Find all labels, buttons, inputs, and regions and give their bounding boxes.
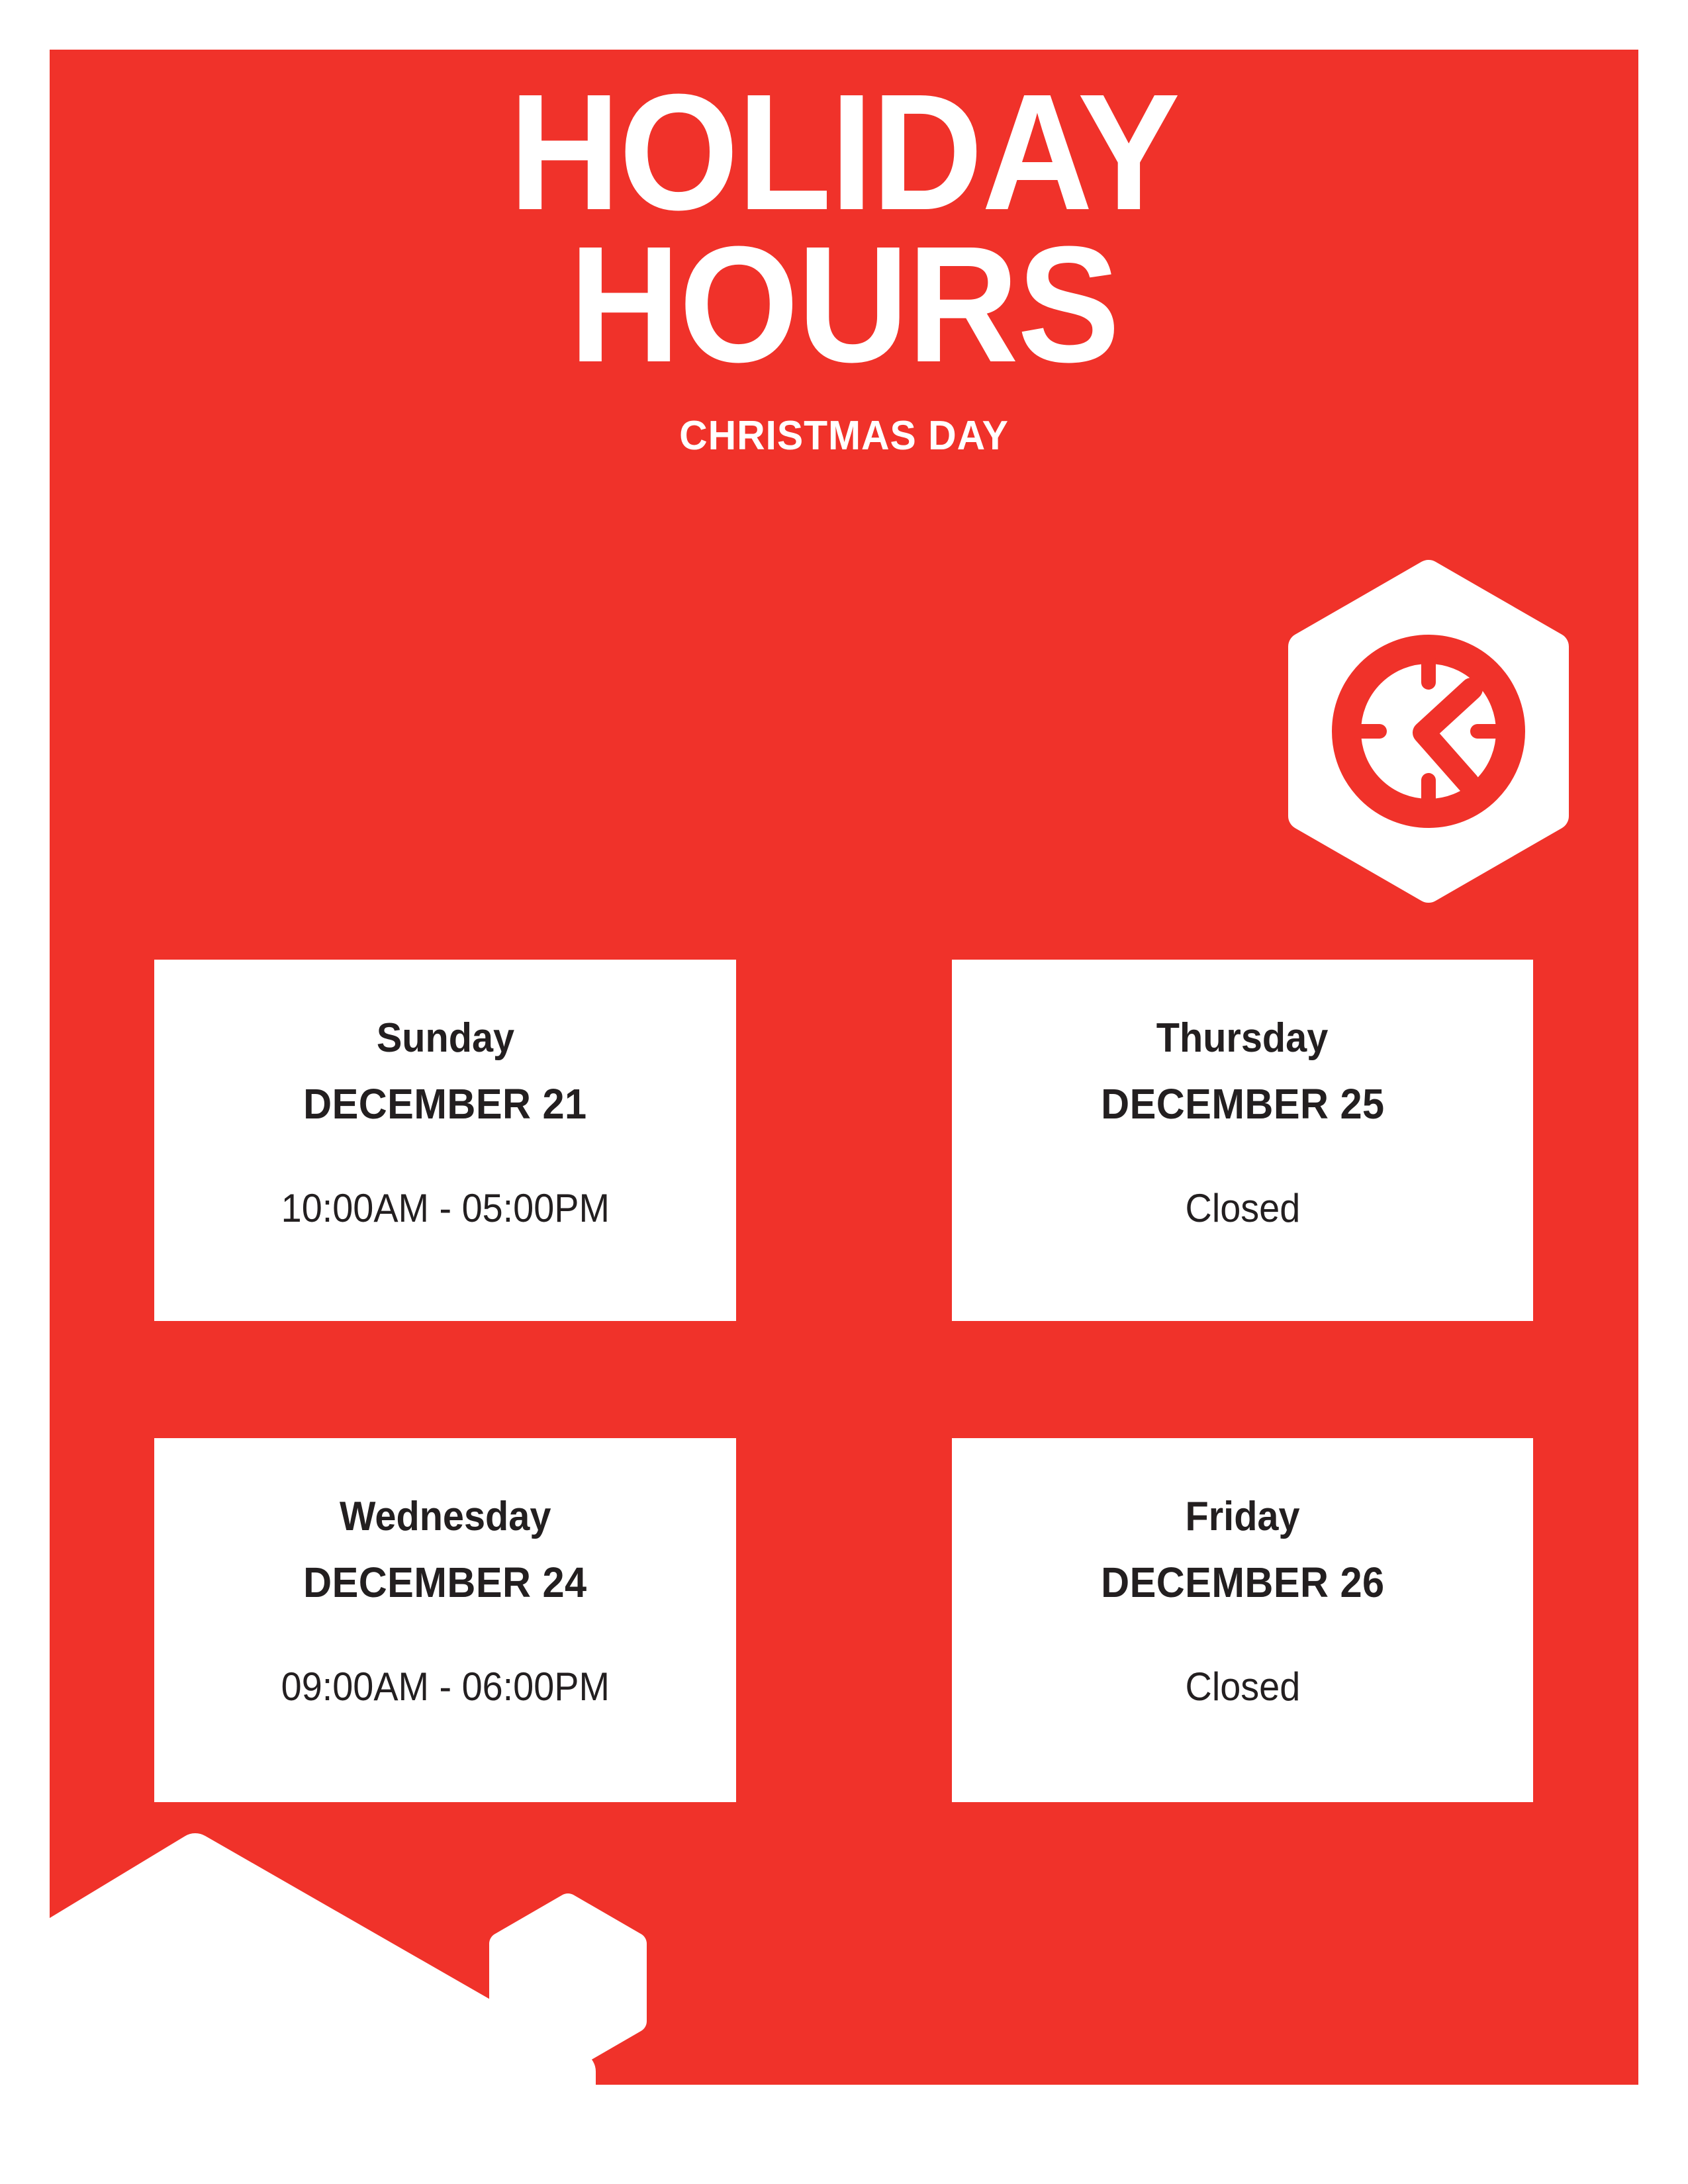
schedule-card: Thursday DECEMBER 25 Closed: [952, 960, 1533, 1321]
card-date-label: DECEMBER 21: [303, 1083, 586, 1125]
card-day-label: Thursday: [1156, 1018, 1329, 1059]
card-date-label: DECEMBER 25: [1101, 1083, 1384, 1125]
page-title: HOLIDAY HOURS: [105, 76, 1583, 381]
card-hours-label: 09:00AM - 06:00PM: [281, 1667, 609, 1707]
holiday-hours-poster: HOLIDAY HOURS CHRISTMAS DAY Sunday DECEM…: [0, 0, 1688, 2184]
card-day-label: Friday: [1185, 1496, 1299, 1537]
card-hours-label: Closed: [1185, 1667, 1300, 1707]
schedule-card: Wednesday DECEMBER 24 09:00AM - 06:00PM: [154, 1438, 736, 1802]
card-hours-label: Closed: [1185, 1189, 1300, 1228]
hexagon-icon: [500, 1905, 635, 2060]
clock-icon: [1274, 559, 1583, 903]
poster-subtitle: CHRISTMAS DAY: [89, 412, 1599, 459]
title-line-hours: HOURS: [105, 228, 1583, 381]
card-date-label: DECEMBER 26: [1101, 1561, 1384, 1604]
card-hours-label: 10:00AM - 05:00PM: [281, 1189, 609, 1228]
schedule-card: Friday DECEMBER 26 Closed: [952, 1438, 1533, 1802]
poster-header: HOLIDAY HOURS CHRISTMAS DAY: [50, 50, 1638, 459]
card-day-label: Sunday: [376, 1018, 514, 1059]
card-date-label: DECEMBER 24: [303, 1561, 586, 1604]
card-day-label: Wednesday: [340, 1496, 551, 1537]
schedule-card: Sunday DECEMBER 21 10:00AM - 05:00PM: [154, 960, 736, 1321]
title-line-holiday: HOLIDAY: [105, 76, 1583, 228]
